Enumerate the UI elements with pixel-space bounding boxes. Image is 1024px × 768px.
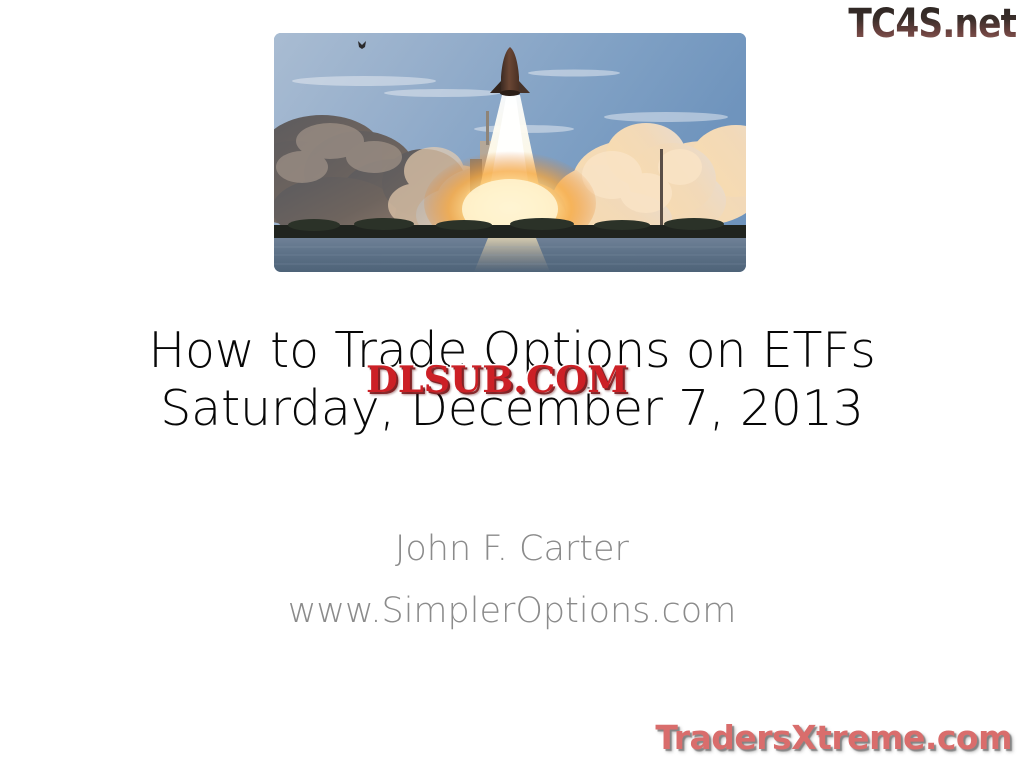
- watermark-dlsub: DLSUB.COM: [366, 360, 628, 400]
- watermark-tc4s: TC4S.net: [848, 2, 1016, 46]
- light-pole: [660, 149, 663, 225]
- space-shuttle-launch-photo: [274, 33, 746, 272]
- presenter-name: John F. Carter: [0, 518, 1024, 580]
- presenter-website: www.SimplerOptions.com: [0, 580, 1024, 642]
- watermark-tradersxtreme: TradersXtreme.com: [655, 720, 1012, 756]
- presentation-slide: How to Trade Options on ETFs Saturday, D…: [0, 0, 1024, 768]
- slide-subtitle: John F. Carter www.SimplerOptions.com: [0, 518, 1024, 642]
- launch-illustration: [274, 33, 746, 272]
